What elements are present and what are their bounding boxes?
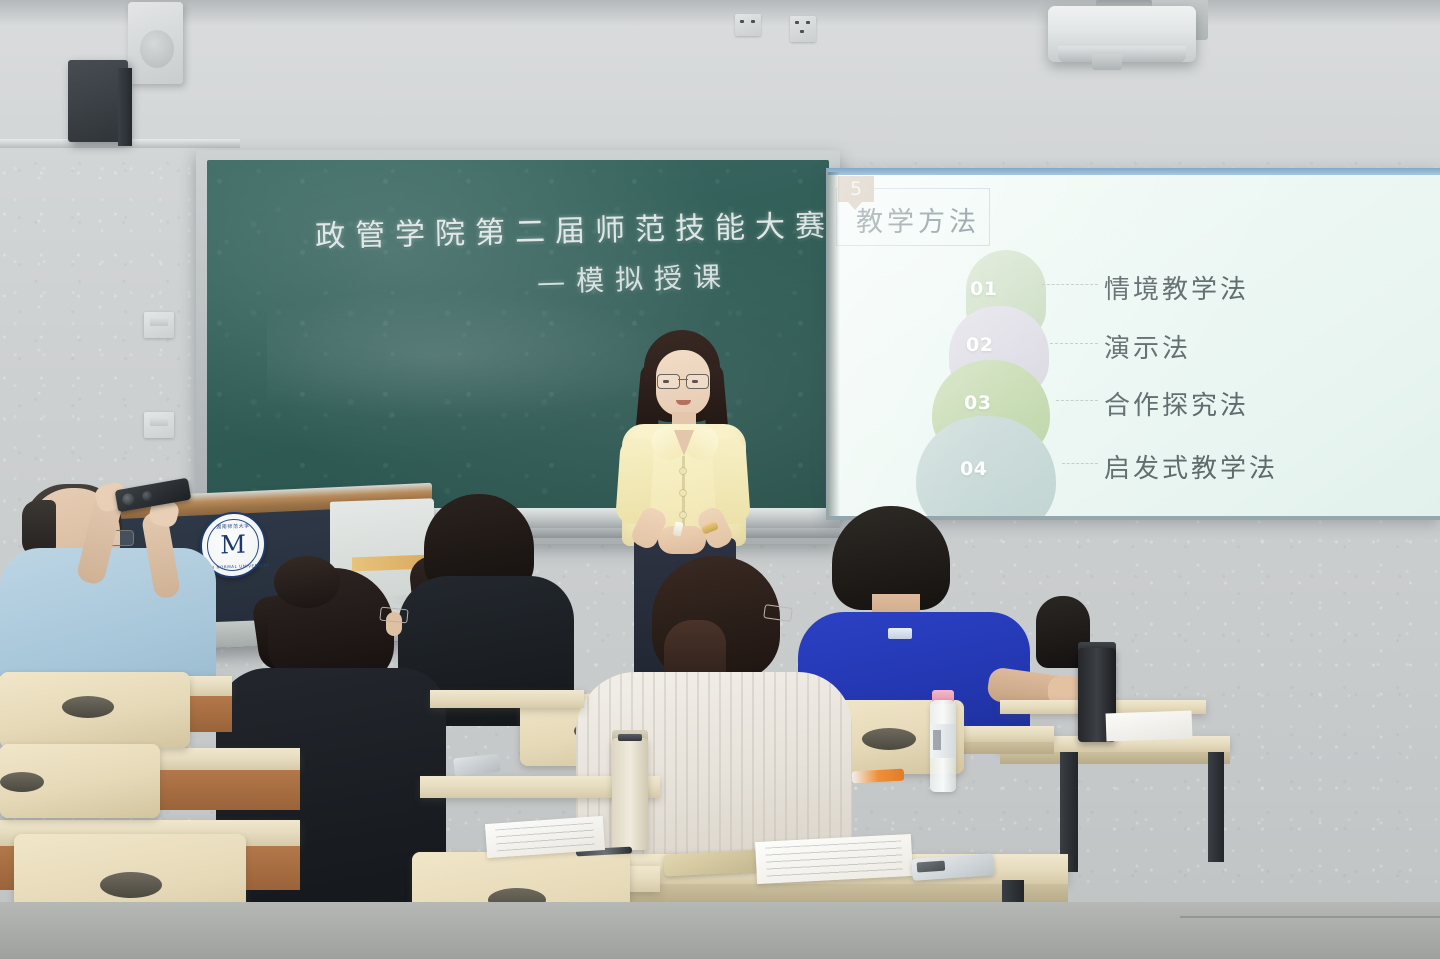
blouse-button [680, 512, 686, 518]
speaker-icon [128, 2, 183, 84]
slide-item-label-01: 情境教学法 [1104, 269, 1249, 306]
shirt-logo [888, 628, 912, 639]
screen-left-shadow [828, 172, 840, 516]
slide-item-label-04: 启发式教学法 [1104, 448, 1278, 485]
paper-sheet [1106, 711, 1193, 742]
floor-seam [1180, 916, 1440, 918]
outlet-slot [740, 20, 744, 23]
teacher-hands [658, 526, 706, 554]
slide-item-label-03: 合作探究法 [1104, 385, 1249, 422]
bottle-label [930, 724, 956, 758]
chair-handle-cutout [0, 772, 44, 792]
glasses-lens-right [686, 374, 709, 389]
handwriting-lines [495, 823, 594, 852]
blouse-button [680, 490, 686, 496]
glasses-lens-left [657, 374, 680, 389]
wall-outlet-icon[interactable] [735, 14, 761, 36]
wall-outlet-icon[interactable] [790, 16, 816, 42]
glasses-bridge [678, 379, 688, 380]
leader-line [1042, 284, 1098, 285]
leader-line [1050, 343, 1098, 344]
blackboard-subheading: —模拟授课 [536, 255, 732, 300]
chair[interactable] [0, 672, 190, 748]
emblem-glyph: M [220, 532, 246, 558]
glasses-icon [656, 374, 710, 387]
outlet-slot [795, 21, 799, 24]
person-hair-bun [274, 556, 340, 608]
projector-icon [1048, 6, 1196, 62]
chair-handle-cutout [100, 872, 162, 898]
glasses-icon [379, 607, 408, 624]
funnel-number-03: 03 [964, 392, 991, 414]
funnel-number-04: 04 [960, 458, 987, 480]
screen-top-edge [828, 168, 1440, 175]
ceiling-shadow [0, 0, 1440, 26]
speaker-side-panel [118, 68, 132, 146]
blouse-button [680, 468, 686, 474]
wall-switch-icon[interactable] [144, 312, 174, 338]
leader-line [1056, 400, 1098, 401]
projector-lens [1092, 54, 1122, 70]
paper-sheet [755, 834, 913, 884]
floor [0, 902, 1440, 959]
desk-surface [430, 690, 584, 708]
chair-handle-cutout [862, 728, 916, 750]
projection-screen: 5 教学方法 01 02 03 04 情境教学法 演示法 合作探究法 启发式教学… [828, 172, 1440, 516]
thermos-clip [618, 734, 642, 741]
chair[interactable] [0, 744, 160, 818]
desk-leg [1208, 752, 1224, 862]
funnel-number-01: 01 [970, 278, 997, 300]
wall-switch-icon[interactable] [144, 412, 174, 438]
slide-title: 教学方法 [856, 200, 980, 239]
leader-line [1062, 463, 1098, 464]
thermos-icon [612, 738, 648, 850]
slide-funnel-graphic [916, 250, 1086, 516]
slide-number-badge: 5 [838, 176, 874, 202]
slide-item-label-02: 演示法 [1104, 328, 1191, 365]
outlet-slot [751, 20, 755, 23]
handwriting-lines [765, 840, 902, 877]
funnel-number-02: 02 [966, 334, 993, 356]
classroom-photo: 政管学院第二届师范技能大赛 —模拟授课 5 教学方法 01 02 03 04 情… [0, 0, 1440, 959]
outlet-slot [806, 21, 810, 24]
chair-handle-cutout [62, 696, 114, 718]
outlet-slot [800, 30, 804, 33]
